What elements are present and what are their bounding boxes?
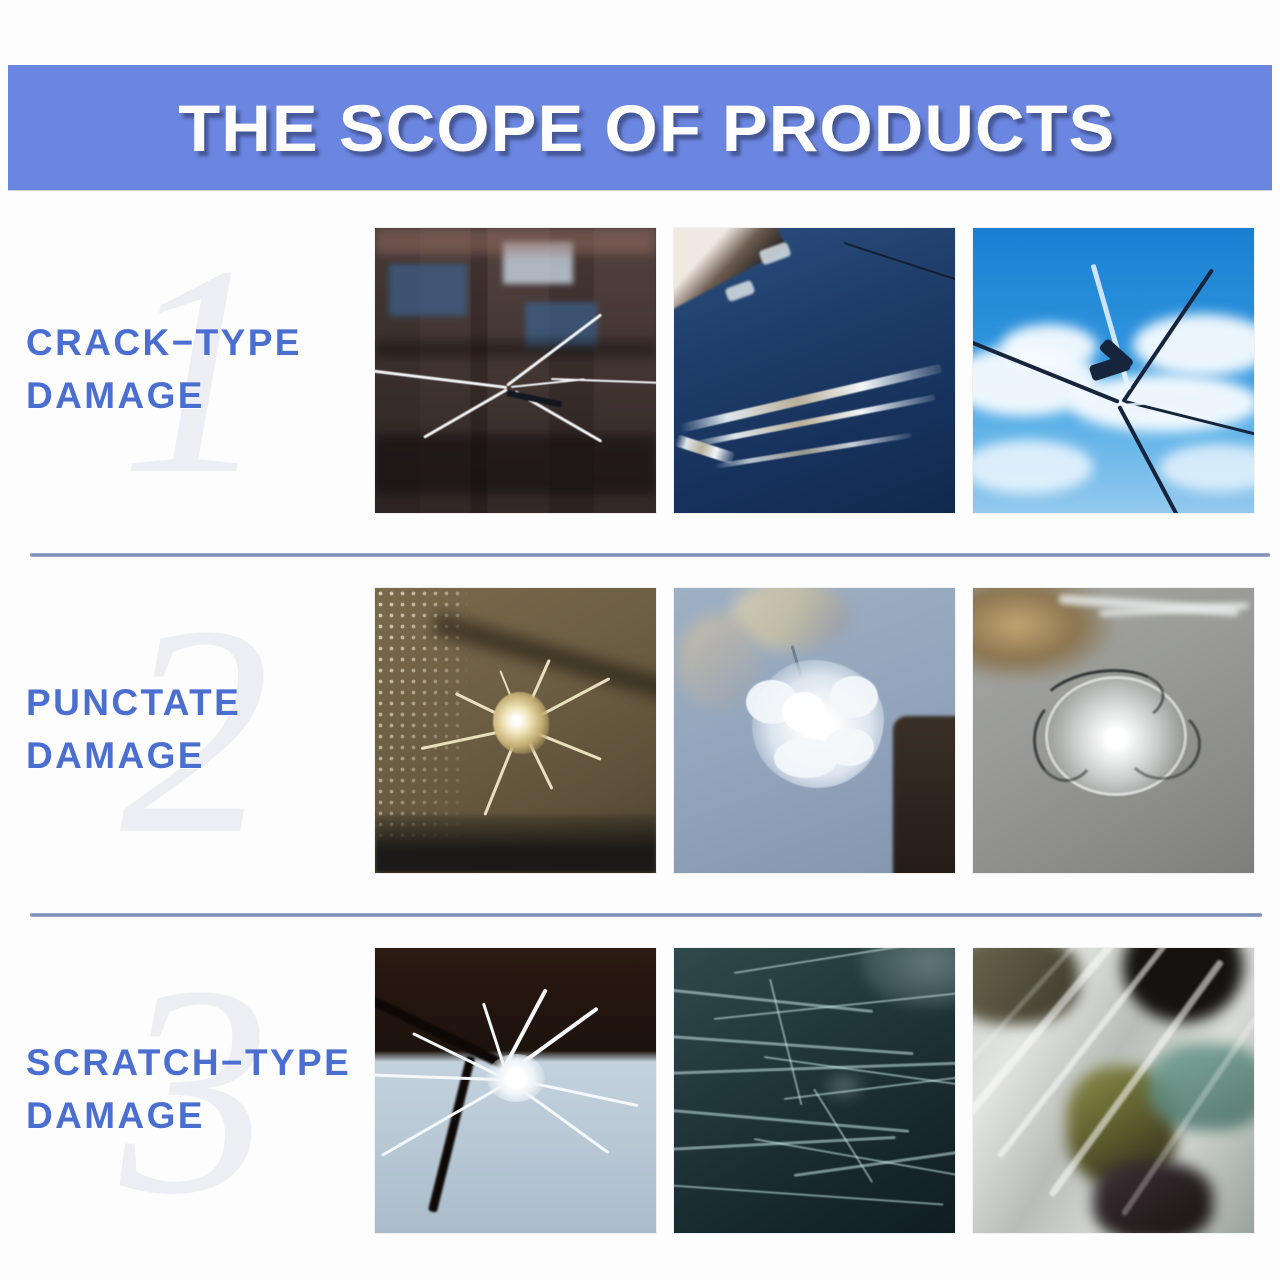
photo-flower-bullseye-chip[interactable] — [674, 588, 955, 873]
row-photo-panels — [375, 228, 1280, 513]
photo-bright-star-impact[interactable] — [375, 948, 656, 1233]
damage-type-rows: 1 CRACK−TYPE DAMAGE — [0, 190, 1280, 1270]
label-line-2: DAMAGE — [26, 1090, 351, 1143]
row-photo-panels — [375, 948, 1280, 1233]
photo-chip-with-legs-on-olive-glass[interactable] — [375, 588, 656, 873]
damage-row-punctate: 2 PUNCTATE DAMAGE — [0, 550, 1280, 910]
page-title: THE SCOPE OF PRODUCTS — [164, 95, 1116, 161]
row-label-scratch-type: SCRATCH−TYPE DAMAGE — [0, 1037, 351, 1142]
label-line-1: SCRATCH−TYPE — [26, 1037, 351, 1090]
photo-diagonal-scuffs[interactable] — [973, 948, 1254, 1233]
header-banner: THE SCOPE OF PRODUCTS — [8, 65, 1272, 190]
label-line-1: CRACK−TYPE — [26, 317, 302, 370]
row-photo-panels — [375, 588, 1280, 873]
photo-star-crack-on-dark-windshield[interactable] — [375, 228, 656, 513]
row-label-cell: 1 CRACK−TYPE DAMAGE — [0, 190, 375, 550]
row-label-cell: 2 PUNCTATE DAMAGE — [0, 550, 375, 910]
photo-dense-scratches[interactable] — [674, 948, 955, 1233]
row-divider-2 — [30, 913, 1262, 917]
row-label-punctate: PUNCTATE DAMAGE — [0, 677, 241, 782]
label-line-2: DAMAGE — [26, 370, 302, 423]
row-label-crack-type: CRACK−TYPE DAMAGE — [0, 317, 302, 422]
photo-round-bullseye-chip[interactable] — [973, 588, 1254, 873]
label-line-2: DAMAGE — [26, 730, 241, 783]
photo-long-crack-on-blue-glass[interactable] — [674, 228, 955, 513]
row-divider-1 — [30, 553, 1270, 557]
row-label-cell: 3 SCRATCH−TYPE DAMAGE — [0, 910, 375, 1270]
photo-cracks-against-blue-sky[interactable] — [973, 228, 1254, 513]
damage-row-crack-type: 1 CRACK−TYPE DAMAGE — [0, 190, 1280, 550]
product-scope-infographic: THE SCOPE OF PRODUCTS 1 CRACK−TYPE DAMAG… — [0, 0, 1280, 1280]
label-line-1: PUNCTATE — [26, 677, 241, 730]
damage-row-scratch-type: 3 SCRATCH−TYPE DAMAGE — [0, 910, 1280, 1270]
